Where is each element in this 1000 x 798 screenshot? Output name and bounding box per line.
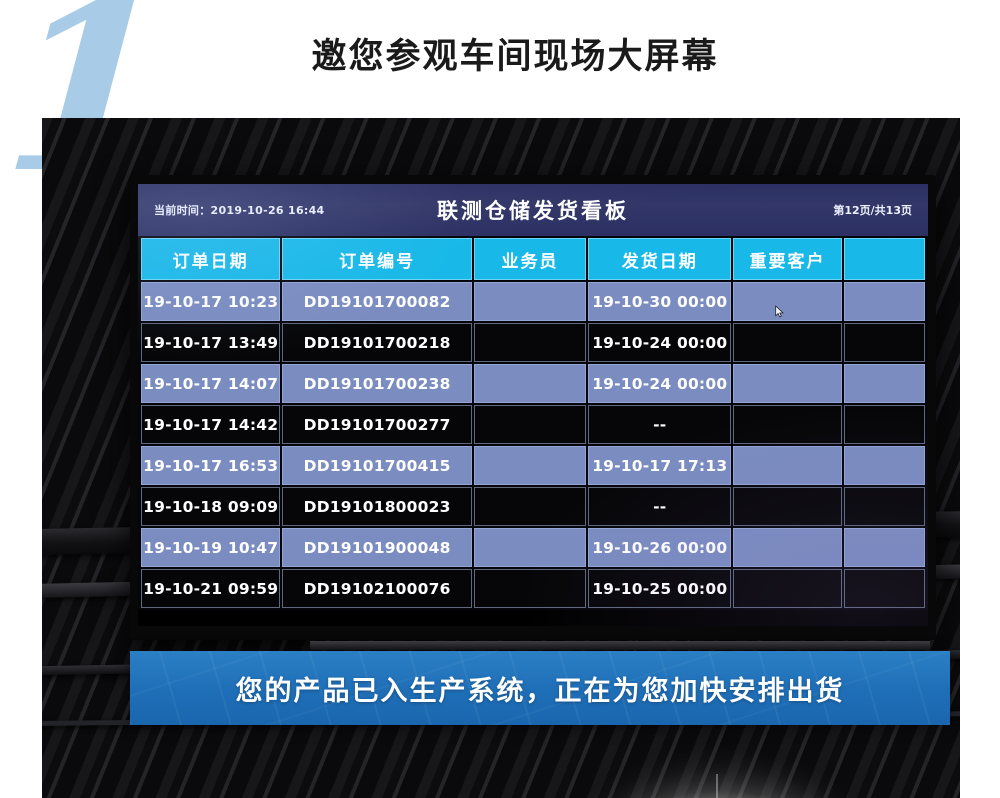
cell-vip [733, 364, 841, 403]
table-row[interactable]: 19-10-21 09:59DD1910210007619-10-25 00:0… [141, 569, 925, 608]
shipment-board-table: 订单日期 订单编号 业务员 发货日期 重要客户 19-10-17 10:23DD… [138, 236, 928, 610]
cell-vip [733, 405, 841, 444]
column-header-salesperson[interactable]: 业务员 [474, 238, 586, 280]
cell-extra [844, 569, 925, 608]
cell-vip [733, 282, 841, 321]
table-row[interactable]: 19-10-17 13:49DD1910170021819-10-24 00:0… [141, 323, 925, 362]
page-indicator: 第12页/共13页 [833, 202, 912, 218]
workshop-photo: 当前时间：2019-10-26 16:44 联测仓储发货看板 第12页/共13页… [42, 118, 960, 798]
cell-vip [733, 528, 841, 567]
table-body: 19-10-17 10:23DD1910170008219-10-30 00:0… [141, 282, 925, 608]
cell-extra [844, 446, 925, 485]
column-header-order-no[interactable]: 订单编号 [282, 238, 472, 280]
cell-ship-date: -- [588, 487, 731, 526]
cell-salesperson [474, 405, 586, 444]
cell-order-date: 19-10-17 16:53 [141, 446, 280, 485]
cell-vip [733, 323, 841, 362]
column-header-extra[interactable] [844, 238, 925, 280]
cell-ship-date: 19-10-17 17:13 [588, 446, 731, 485]
table-row[interactable]: 19-10-17 14:42DD19101700277-- [141, 405, 925, 444]
cell-order-no: DD19101700277 [282, 405, 472, 444]
cell-order-no: DD19101700082 [282, 282, 472, 321]
column-header-vip[interactable]: 重要客户 [733, 238, 841, 280]
cell-salesperson [474, 487, 586, 526]
cell-order-no: DD19101700238 [282, 364, 472, 403]
cell-ship-date: -- [588, 405, 731, 444]
caption-banner: 您的产品已入生产系统，正在为您加快安排出货 [130, 651, 950, 725]
cell-salesperson [474, 446, 586, 485]
table-row[interactable]: 19-10-19 10:47DD1910190004819-10-26 00:0… [141, 528, 925, 567]
cell-salesperson [474, 282, 586, 321]
poster-page: 1 邀您参观车间现场大屏幕 当前时间：2019-10-26 16:44 联测仓储… [0, 0, 1000, 798]
cell-extra [844, 528, 925, 567]
cell-ship-date: 19-10-25 00:00 [588, 569, 731, 608]
cell-order-date: 19-10-18 09:09 [141, 487, 280, 526]
cell-extra [844, 282, 925, 321]
cell-order-no: DD19101700218 [282, 323, 472, 362]
cell-salesperson [474, 528, 586, 567]
cell-extra [844, 487, 925, 526]
cell-order-no: DD19101900048 [282, 528, 472, 567]
cell-order-date: 19-10-17 14:42 [141, 405, 280, 444]
cell-vip [733, 487, 841, 526]
cell-salesperson [474, 569, 586, 608]
wall-monitor: 当前时间：2019-10-26 16:44 联测仓储发货看板 第12页/共13页… [130, 175, 936, 640]
table-header-row: 订单日期 订单编号 业务员 发货日期 重要客户 [141, 238, 925, 280]
column-header-order-date[interactable]: 订单日期 [141, 238, 280, 280]
cell-salesperson [474, 364, 586, 403]
current-time-label: 当前时间：2019-10-26 16:44 [154, 202, 325, 218]
cell-extra [844, 405, 925, 444]
cell-order-date: 19-10-17 14:07 [141, 364, 280, 403]
table-row[interactable]: 19-10-17 10:23DD1910170008219-10-30 00:0… [141, 282, 925, 321]
cell-ship-date: 19-10-26 00:00 [588, 528, 731, 567]
cell-ship-date: 19-10-30 00:00 [588, 282, 731, 321]
cell-order-date: 19-10-17 10:23 [141, 282, 280, 321]
monitor-mount [310, 641, 930, 650]
cell-vip [733, 446, 841, 485]
cell-extra [844, 323, 925, 362]
table-row[interactable]: 19-10-17 14:07DD1910170023819-10-24 00:0… [141, 364, 925, 403]
cell-order-no: DD19101700415 [282, 446, 472, 485]
page-title: 邀您参观车间现场大屏幕 [0, 28, 1000, 79]
table-row[interactable]: 19-10-18 09:09DD19101800023-- [141, 487, 925, 526]
cell-order-date: 19-10-17 13:49 [141, 323, 280, 362]
cell-order-no: DD19102100076 [282, 569, 472, 608]
cell-salesperson [474, 323, 586, 362]
dashboard-header: 当前时间：2019-10-26 16:44 联测仓储发货看板 第12页/共13页 [138, 184, 928, 236]
cell-extra [844, 364, 925, 403]
cell-order-date: 19-10-19 10:47 [141, 528, 280, 567]
caption-text: 您的产品已入生产系统，正在为您加快安排出货 [236, 669, 845, 708]
cell-ship-date: 19-10-24 00:00 [588, 323, 731, 362]
cell-vip [733, 569, 841, 608]
cell-order-no: DD19101800023 [282, 487, 472, 526]
table-row[interactable]: 19-10-17 16:53DD1910170041519-10-17 17:1… [141, 446, 925, 485]
dashboard-screen: 当前时间：2019-10-26 16:44 联测仓储发货看板 第12页/共13页… [138, 184, 928, 626]
cell-ship-date: 19-10-24 00:00 [588, 364, 731, 403]
column-header-ship-date[interactable]: 发货日期 [588, 238, 731, 280]
table-header: 订单日期 订单编号 业务员 发货日期 重要客户 [141, 238, 925, 280]
cell-order-date: 19-10-21 09:59 [141, 569, 280, 608]
